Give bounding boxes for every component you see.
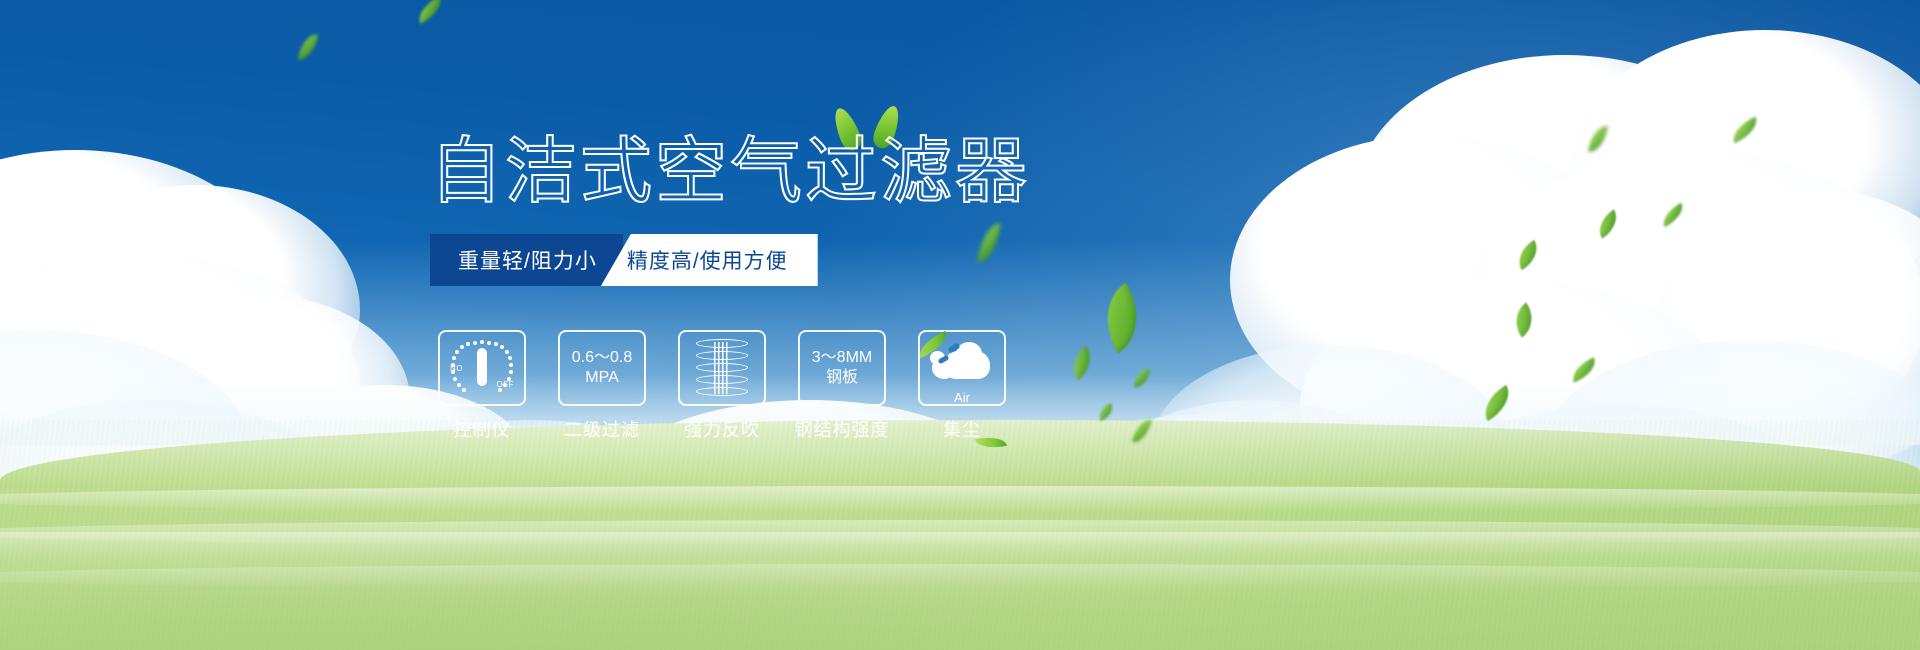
- product-banner: 自洁式空气过滤器 重量轻/阻力小 精度高/使用方便: [0, 0, 1920, 650]
- feature-item-steel-strength[interactable]: 3～8MM 钢板 钢结构强度: [798, 330, 886, 442]
- feature-item-dust-collection[interactable]: Air 集尘: [918, 330, 1006, 442]
- steel-plate-text: 钢板: [826, 368, 858, 388]
- feature-label-strong-backblow: 强力反吹: [684, 416, 760, 442]
- tag-high-precision-easy-use[interactable]: 精度高/使用方便: [601, 234, 818, 286]
- air-text: Air: [930, 390, 994, 405]
- gauge-needle: [477, 348, 487, 386]
- steel-thickness-text: 3～8MM: [812, 348, 872, 368]
- feature-icon-row: NO OFF 控制仪 0.6～0.8 MPA 二级过滤: [438, 330, 1006, 442]
- pressure-unit-text: MPA: [585, 368, 618, 388]
- tag-lightweight-low-resistance[interactable]: 重量轻/阻力小: [430, 234, 623, 286]
- filter-cartridge-icon: [696, 339, 748, 397]
- page-title: 自洁式空气过滤器: [430, 132, 1030, 212]
- gauge-icon: NO OFF: [451, 339, 513, 397]
- feature-box-backblow: [678, 330, 766, 406]
- gauge-label-on: NO: [450, 364, 463, 373]
- feature-label-steel-strength: 钢结构强度: [795, 416, 890, 442]
- feature-item-strong-backblow[interactable]: 强力反吹: [678, 330, 766, 442]
- feature-tag-bar: 重量轻/阻力小 精度高/使用方便: [430, 234, 818, 286]
- pressure-range-text: 0.6～0.8: [572, 348, 633, 368]
- air-cloud-icon: Air: [930, 343, 994, 389]
- banner-content: 自洁式空气过滤器 重量轻/阻力小 精度高/使用方便: [0, 0, 1920, 650]
- feature-label-controller: 控制仪: [454, 416, 511, 442]
- feature-box-dust: Air: [918, 330, 1006, 406]
- feature-item-secondary-filtration[interactable]: 0.6～0.8 MPA 二级过滤: [558, 330, 646, 442]
- feature-box-pressure: 0.6～0.8 MPA: [558, 330, 646, 406]
- feature-box-controller: NO OFF: [438, 330, 526, 406]
- feature-item-controller[interactable]: NO OFF 控制仪: [438, 330, 526, 442]
- feature-label-secondary-filtration: 二级过滤: [564, 416, 640, 442]
- gauge-label-off: OFF: [497, 380, 515, 389]
- feature-box-steel: 3～8MM 钢板: [798, 330, 886, 406]
